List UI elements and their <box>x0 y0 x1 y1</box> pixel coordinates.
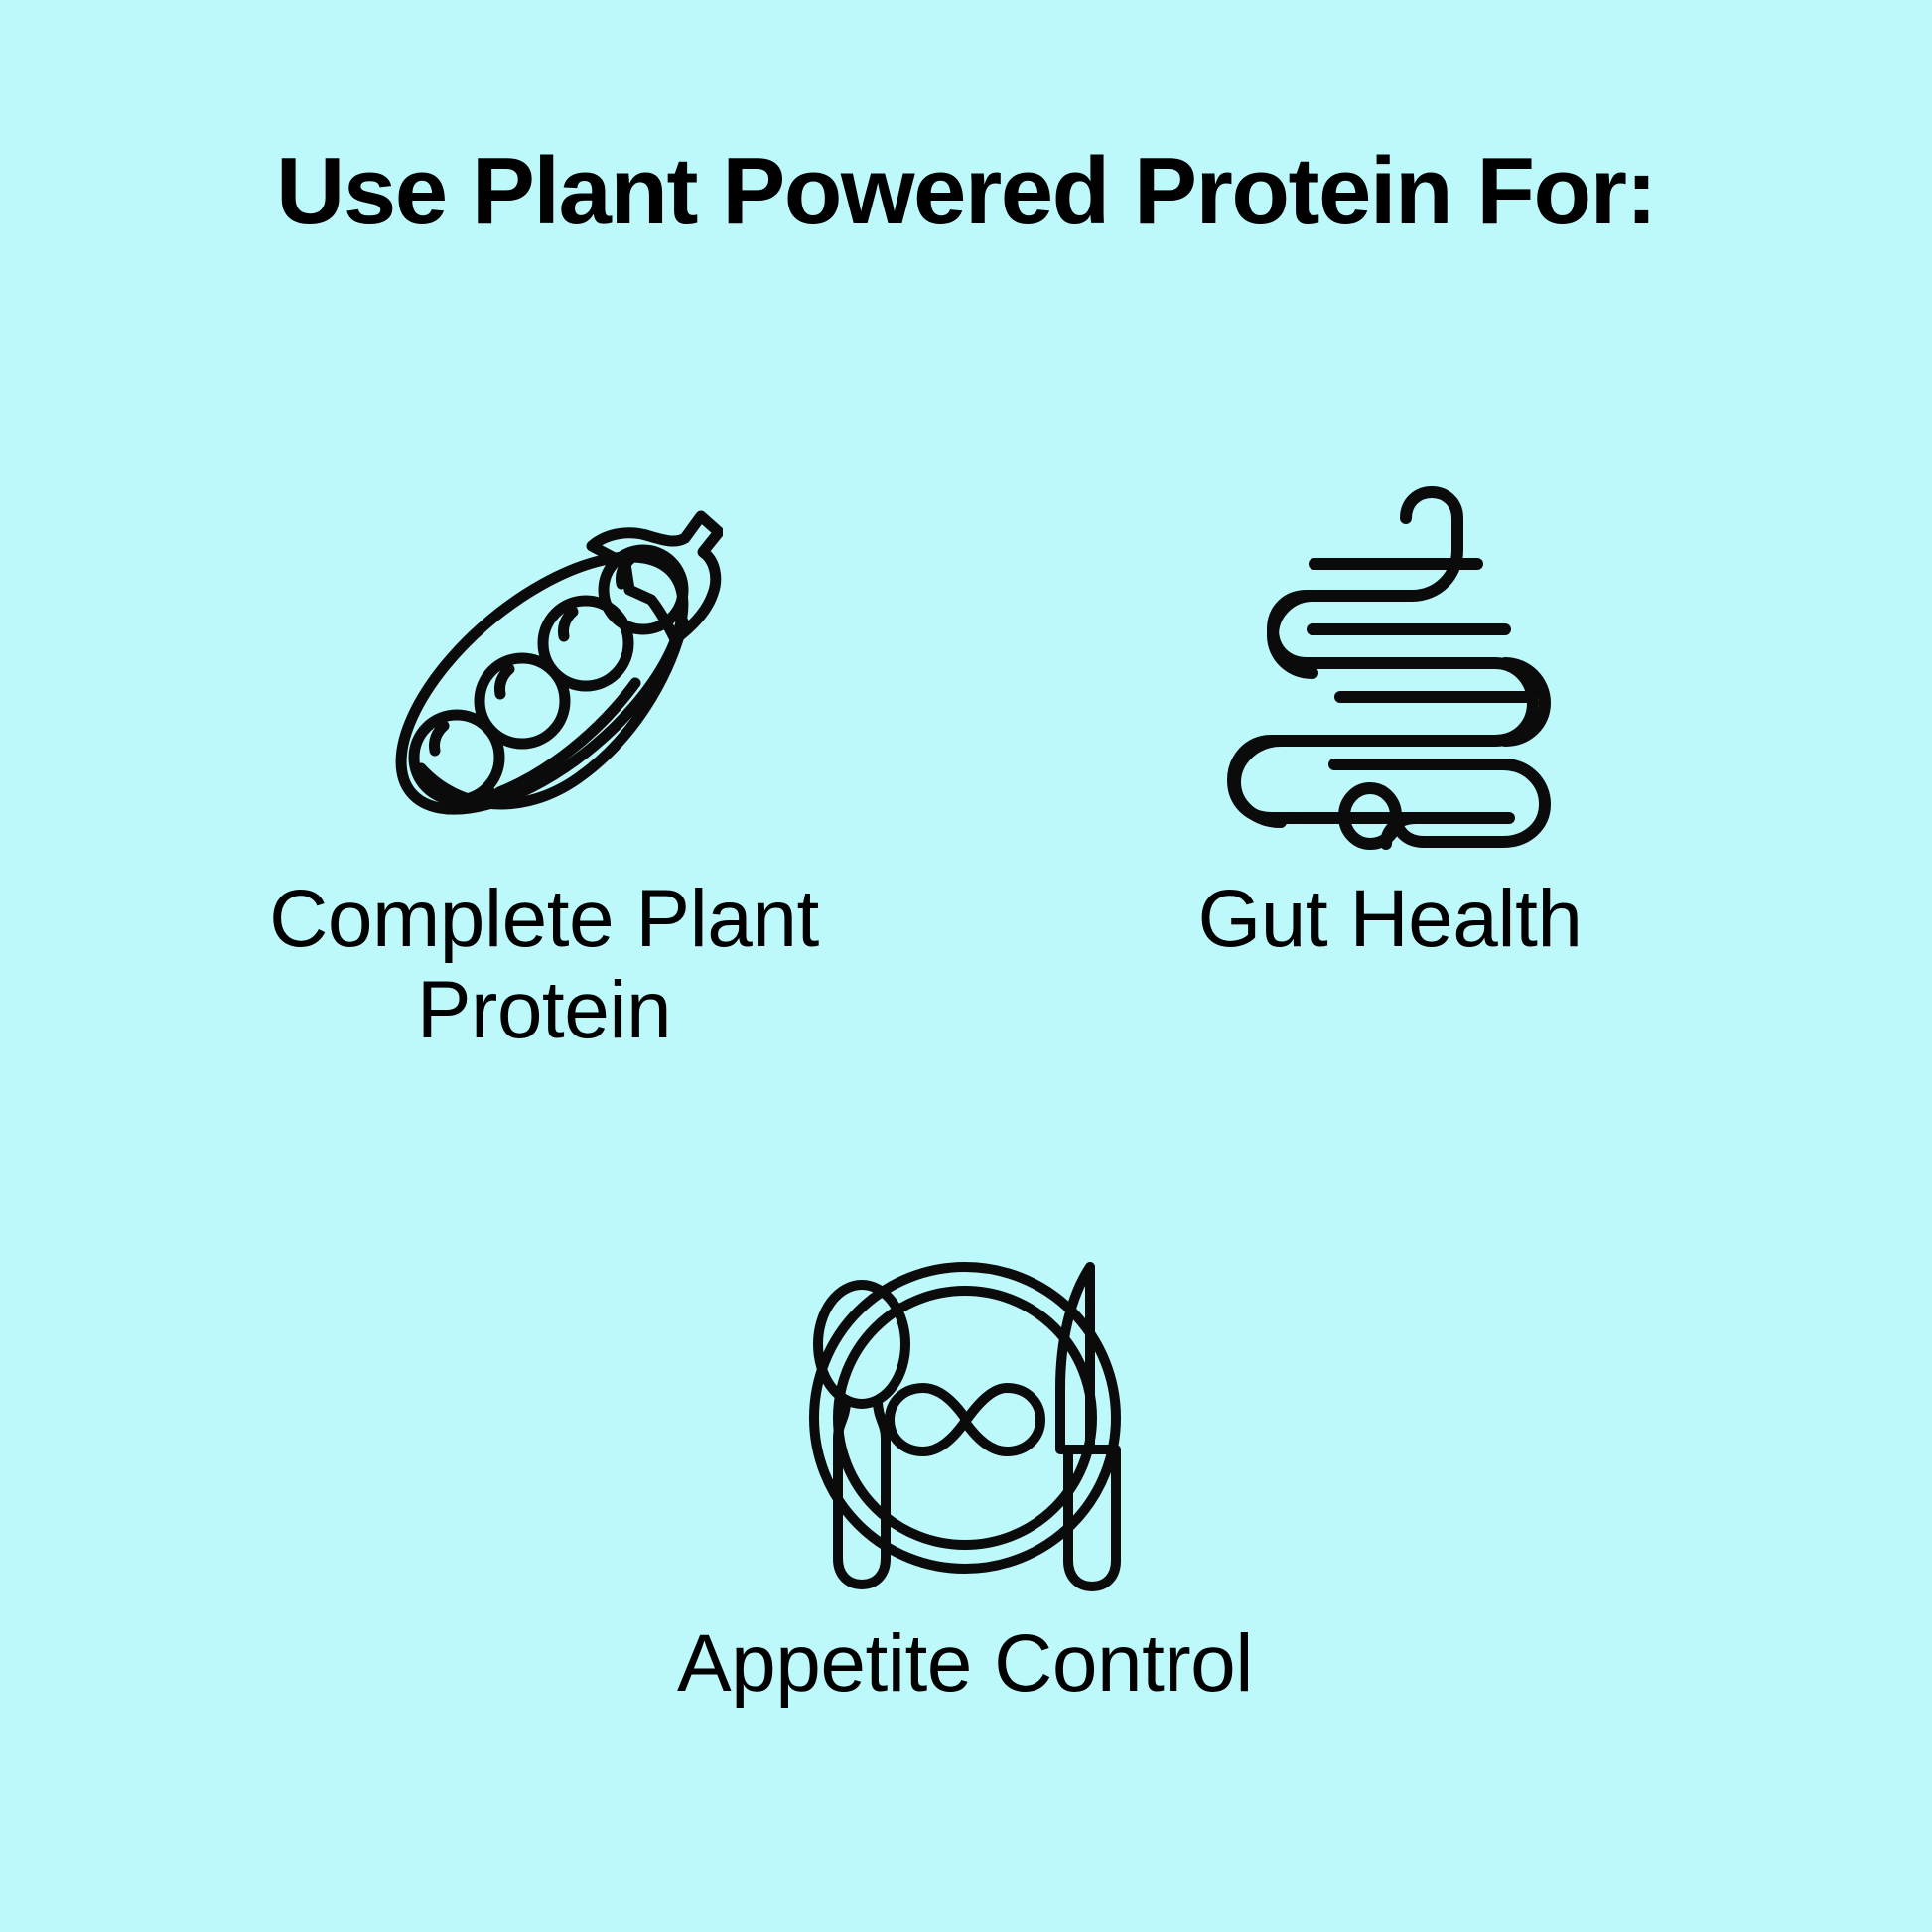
benefit-label-appetite-control: Appetite Control <box>677 1618 1253 1710</box>
benefit-item-complete-plant-protein: Complete Plant Protein <box>167 494 921 1056</box>
benefit-label-line-2: Protein <box>417 965 671 1055</box>
plate-cutlery-infinity-icon <box>786 1239 1144 1596</box>
intestine-icon <box>1211 484 1569 852</box>
benefit-item-appetite-control: Appetite Control <box>588 1239 1342 1710</box>
benefit-label-line-1: Appetite Control <box>677 1618 1253 1709</box>
benefit-item-gut-health: Gut Health <box>1013 484 1767 965</box>
benefit-label-line-1: Complete Plant <box>269 874 819 964</box>
benefit-label-complete-plant-protein: Complete Plant Protein <box>269 874 819 1056</box>
benefit-label-line-1: Gut Health <box>1198 874 1583 964</box>
pea-pod-icon <box>365 494 723 852</box>
promo-graphic: Use Plant Powered Protein For: <box>0 0 1932 1932</box>
benefit-label-gut-health: Gut Health <box>1198 874 1583 965</box>
page-title: Use Plant Powered Protein For: <box>0 142 1932 242</box>
